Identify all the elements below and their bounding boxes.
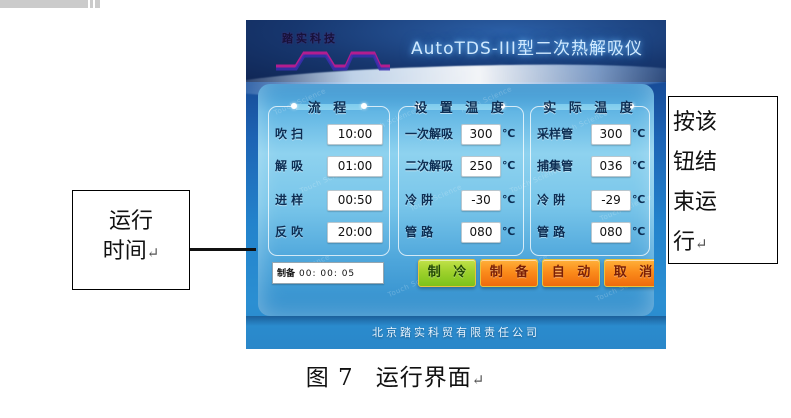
unit-set-0: ℃ [502, 123, 515, 145]
group-title-set-temperature: 设 置 温 度 [408, 97, 514, 116]
annotation-stop-run: 按该 钮结 束运 行↵ [668, 96, 778, 264]
value-actual-1: 036 [591, 156, 631, 177]
annotation-left-line2-wrap: 时间↵ [73, 237, 189, 268]
unit-set-1: ℃ [502, 155, 515, 177]
grey-bar-tick [88, 0, 90, 8]
row-flow-0: 吹 扫 10:00 [269, 123, 389, 145]
caption-figure-number: 图 7 [306, 365, 354, 391]
caption-text: 运行界面 [376, 365, 472, 391]
label-flow-0: 吹 扫 [275, 123, 327, 145]
title-dot-right-icon [361, 103, 367, 109]
value-actual-0: 300 [591, 124, 631, 145]
value-set-3[interactable]: 080 [461, 222, 501, 243]
label-set-0: 一次解吸 [405, 123, 461, 145]
logo-waveform-icon [274, 42, 392, 72]
auto-button[interactable]: 自 动 [542, 259, 600, 287]
value-actual-2: -29 [591, 190, 631, 211]
title-dot-left-icon [291, 103, 297, 109]
annotation-right-line1: 按该 [673, 103, 777, 143]
annotation-right-line3: 束运 [673, 183, 777, 223]
annotation-right-line4: 行 [673, 230, 695, 255]
control-panel: Touch Science Touch Science Touch Scienc… [258, 84, 654, 316]
row-actual-0: 采样管 300 ℃ [531, 123, 649, 145]
unit-actual-0: ℃ [632, 123, 645, 145]
annotation-left-line1: 运行 [73, 207, 189, 237]
figure-caption: 图 7运行界面↵ [0, 358, 791, 392]
group-title-flow: 流 程 [302, 97, 357, 116]
row-set-3: 管 路 080 ℃ [399, 221, 523, 243]
device-screen: 踏实科技 AutoTDS-III型二次热解吸仪 Touch Science To… [246, 20, 666, 349]
label-actual-2: 冷 阱 [537, 189, 589, 211]
annotation-right-line2: 钮结 [673, 143, 777, 183]
group-flow: 流 程 吹 扫 10:00 解 吸 01:00 进 样 00:50 反 吹 20… [268, 106, 390, 256]
value-flow-3[interactable]: 20:00 [327, 222, 383, 243]
row-actual-2: 冷 阱 -29 ℃ [531, 189, 649, 211]
value-flow-2[interactable]: 00:50 [327, 190, 383, 211]
cancel-button[interactable]: 取 消 [604, 259, 654, 287]
label-actual-1: 捕集管 [537, 155, 589, 177]
grey-bar-tick [93, 0, 95, 8]
label-actual-3: 管 路 [537, 221, 589, 243]
annotation-left-mark: ↵ [147, 244, 160, 262]
device-title: AutoTDS-III型二次热解吸仪 [396, 34, 658, 59]
value-set-1[interactable]: 250 [461, 156, 501, 177]
row-flow-1: 解 吸 01:00 [269, 155, 389, 177]
value-flow-0[interactable]: 10:00 [327, 124, 383, 145]
label-flow-2: 进 样 [275, 189, 327, 211]
annotation-right-mark: ↵ [695, 235, 708, 253]
label-flow-1: 解 吸 [275, 155, 327, 177]
prepare-button[interactable]: 制 备 [480, 259, 538, 287]
device-footer-company: 北京踏实科贸有限责任公司 [246, 316, 666, 349]
unit-set-2: ℃ [502, 189, 515, 211]
row-actual-3: 管 路 080 ℃ [531, 221, 649, 243]
value-set-0[interactable]: 300 [461, 124, 501, 145]
label-set-1: 二次解吸 [405, 155, 461, 177]
unit-actual-2: ℃ [632, 189, 645, 211]
unit-actual-3: ℃ [632, 221, 645, 243]
label-flow-3: 反 吹 [275, 221, 327, 243]
label-set-2: 冷 阱 [405, 189, 461, 211]
group-title-actual-temperature: 实 际 温 度 [537, 97, 643, 116]
cooling-button[interactable]: 制 冷 [418, 259, 476, 287]
value-actual-3: 080 [591, 222, 631, 243]
row-actual-1: 捕集管 036 ℃ [531, 155, 649, 177]
device-header: 踏实科技 AutoTDS-III型二次热解吸仪 [246, 20, 666, 82]
row-flow-3: 反 吹 20:00 [269, 221, 389, 243]
annotation-run-time: 运行 时间↵ [72, 190, 190, 290]
annotation-right-line4-wrap: 行↵ [673, 223, 777, 263]
company-logo: 踏实科技 [274, 28, 394, 76]
row-set-1: 二次解吸 250 ℃ [399, 155, 523, 177]
group-actual-temperature: 实 际 温 度 采样管 300 ℃ 捕集管 036 ℃ 冷 阱 -29 ℃ 管 … [530, 106, 650, 256]
label-set-3: 管 路 [405, 221, 461, 243]
row-flow-2: 进 样 00:50 [269, 189, 389, 211]
row-set-0: 一次解吸 300 ℃ [399, 123, 523, 145]
run-time-status-field: 制备00: 00: 05 [272, 262, 384, 284]
annotation-connector-line [190, 248, 256, 251]
status-time: 00: 00: 05 [299, 269, 355, 279]
row-set-2: 冷 阱 -30 ℃ [399, 189, 523, 211]
value-set-2[interactable]: -30 [461, 190, 501, 211]
annotation-left-line2: 时间 [103, 239, 147, 264]
group-set-temperature: 设 置 温 度 一次解吸 300 ℃ 二次解吸 250 ℃ 冷 阱 -30 ℃ … [398, 106, 524, 256]
caption-mark: ↵ [472, 371, 486, 389]
top-grey-bar [0, 0, 100, 8]
value-flow-1[interactable]: 01:00 [327, 156, 383, 177]
label-actual-0: 采样管 [537, 123, 589, 145]
unit-actual-1: ℃ [632, 155, 645, 177]
status-label: 制备 [277, 269, 295, 279]
unit-set-3: ℃ [502, 221, 515, 243]
